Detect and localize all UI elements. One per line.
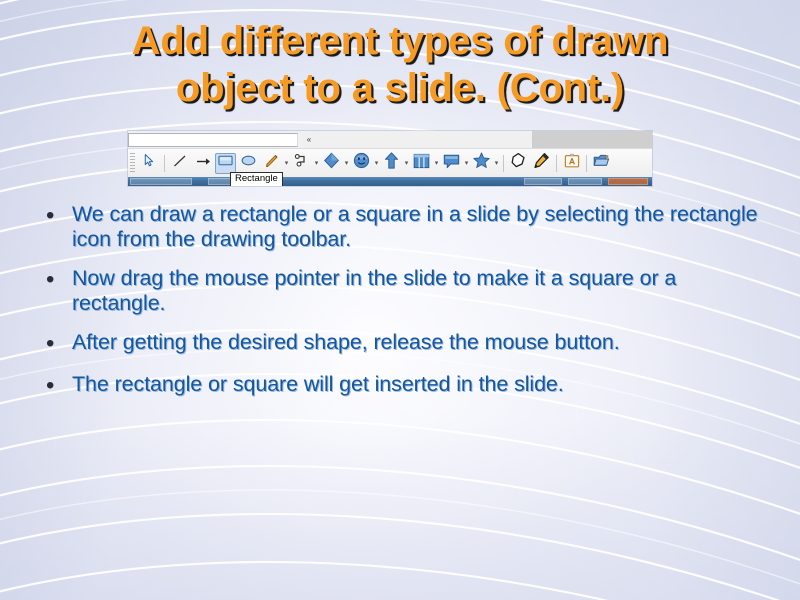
- drawing-toolbar[interactable]: ▾ ▾ ▾ ▾: [128, 148, 652, 177]
- screenshot-panel-strip: [532, 131, 652, 148]
- polygon-points-icon: [510, 152, 527, 174]
- bullet-text: After getting the desired shape, release…: [72, 330, 758, 355]
- select-tool-button[interactable]: [139, 153, 160, 174]
- diamond-icon: [323, 152, 340, 174]
- arrow-icon: [195, 153, 211, 174]
- basic-shapes-dropdown-caret[interactable]: ▾: [343, 160, 350, 167]
- line-icon: [172, 153, 188, 174]
- bullet-list: • We can draw a rectangle or a square in…: [42, 202, 758, 414]
- ellipse-icon: [241, 154, 256, 172]
- from-file-button[interactable]: [591, 153, 612, 174]
- callouts-dropdown-caret[interactable]: ▾: [463, 160, 470, 167]
- block-arrows-dropdown-caret[interactable]: ▾: [403, 160, 410, 167]
- stars-dropdown-caret[interactable]: ▾: [493, 160, 500, 167]
- list-item: • Now drag the mouse pointer in the slid…: [42, 266, 758, 316]
- screenshot-address-row: «: [128, 131, 652, 148]
- list-item: • After getting the desired shape, relea…: [42, 330, 758, 358]
- presentation-slide: Add different types of drawn object to a…: [0, 0, 800, 600]
- rectangle-tooltip: Rectangle: [230, 172, 283, 186]
- up-arrow-icon: [384, 152, 399, 174]
- taskbar-item: [524, 178, 562, 185]
- taskbar-item: [608, 178, 648, 185]
- font-gallery-icon: [564, 153, 580, 174]
- stars-tool-button[interactable]: [471, 153, 492, 174]
- bullet-marker: •: [42, 372, 72, 400]
- points-tool-button[interactable]: [508, 153, 529, 174]
- bullet-text: Now drag the mouse pointer in the slide …: [72, 266, 758, 316]
- fontwork-gallery-button[interactable]: [561, 153, 582, 174]
- block-arrows-tool-button[interactable]: [381, 153, 402, 174]
- select-arrow-icon: [142, 153, 157, 173]
- toolbar-separator: [503, 155, 504, 172]
- screenshot-taskbar: [128, 177, 652, 186]
- chevron-left-icon[interactable]: «: [302, 133, 316, 147]
- rectangle-icon: [218, 154, 233, 172]
- flowchart-dropdown-caret[interactable]: ▾: [433, 160, 440, 167]
- basic-shapes-tool-button[interactable]: [321, 153, 342, 174]
- bullet-text: We can draw a rectangle or a square in a…: [72, 202, 758, 252]
- ellipse-tool-button[interactable]: [238, 153, 259, 174]
- connector-tool-button[interactable]: [291, 153, 312, 174]
- rectangle-tool-button[interactable]: [215, 153, 236, 174]
- toolbar-separator: [556, 155, 557, 172]
- symbol-shapes-dropdown-caret[interactable]: ▾: [373, 160, 380, 167]
- bullet-marker: •: [42, 266, 72, 294]
- list-item: • The rectangle or square will get inser…: [42, 372, 758, 400]
- callout-icon: [443, 153, 460, 174]
- flowchart-icon: [413, 153, 430, 174]
- line-ends-arrow-tool-button[interactable]: [192, 153, 213, 174]
- line-tool-button[interactable]: [169, 153, 190, 174]
- symbol-shapes-tool-button[interactable]: [351, 153, 372, 174]
- curve-tool-dropdown-caret[interactable]: ▾: [283, 160, 290, 167]
- pen-icon: [533, 152, 550, 174]
- bullet-text: The rectangle or square will get inserte…: [72, 372, 758, 397]
- callouts-tool-button[interactable]: [441, 153, 462, 174]
- glue-points-tool-button[interactable]: [531, 153, 552, 174]
- bullet-marker: •: [42, 330, 72, 358]
- curve-pencil-icon: [264, 153, 280, 174]
- drawing-toolbar-screenshot: «: [128, 131, 652, 186]
- list-item: • We can draw a rectangle or a square in…: [42, 202, 758, 252]
- screenshot-text-input[interactable]: [128, 133, 298, 147]
- image-file-icon: [593, 153, 610, 173]
- curve-tool-button[interactable]: [261, 153, 282, 174]
- toolbar-grip-handle[interactable]: [130, 153, 135, 173]
- smiley-icon: [353, 152, 370, 174]
- page-title: Add different types of drawn object to a…: [40, 18, 760, 112]
- taskbar-item: [568, 178, 602, 185]
- bullet-marker: •: [42, 202, 72, 230]
- taskbar-item: [130, 178, 192, 185]
- toolbar-separator: [586, 155, 587, 172]
- star-icon: [473, 152, 490, 174]
- toolbar-separator: [164, 155, 165, 172]
- connector-tool-dropdown-caret[interactable]: ▾: [313, 160, 320, 167]
- connector-icon: [294, 153, 310, 174]
- flowchart-tool-button[interactable]: [411, 153, 432, 174]
